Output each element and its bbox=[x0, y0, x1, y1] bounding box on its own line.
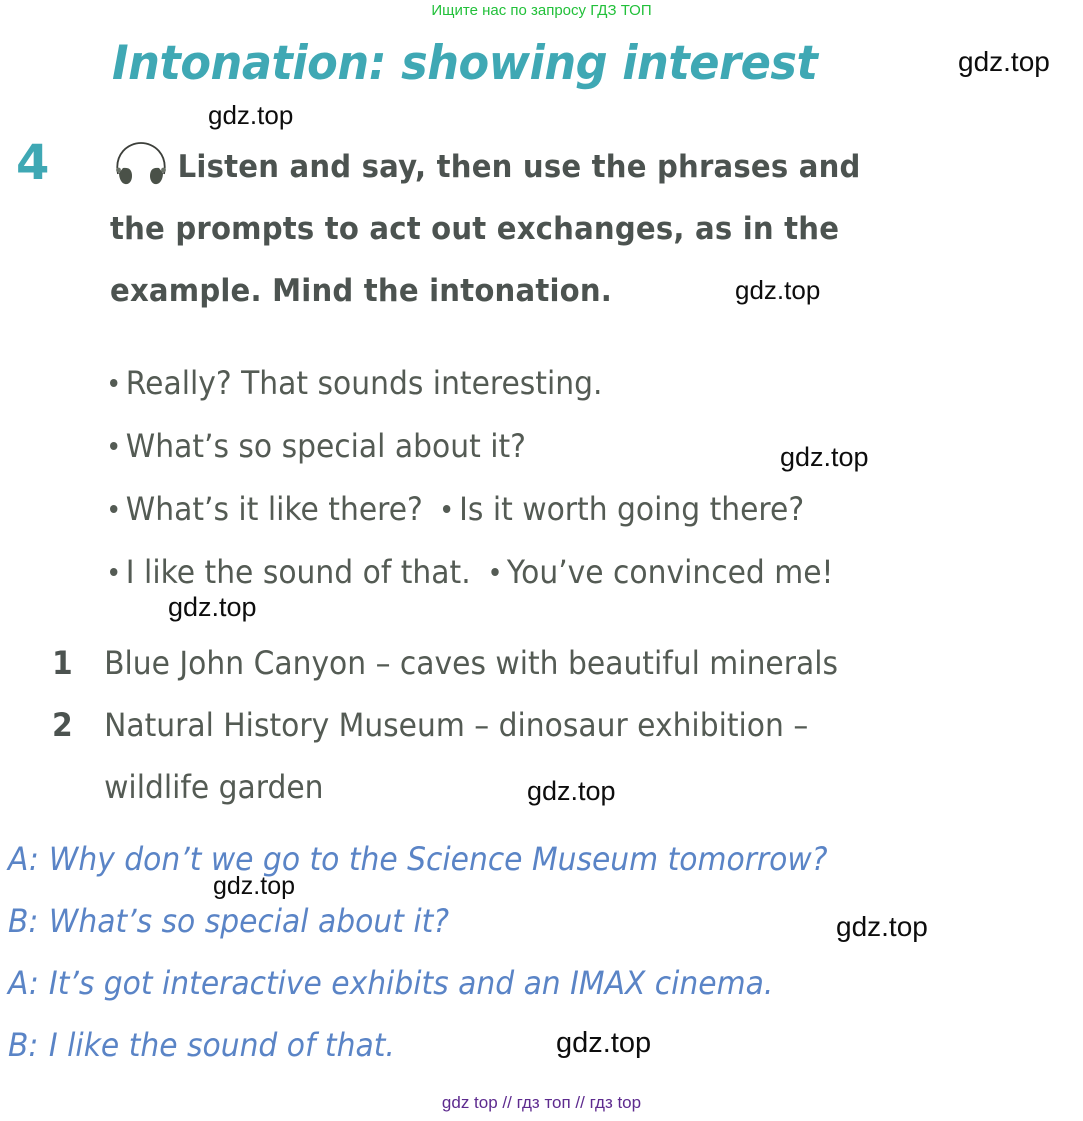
phrase-item: I like the sound of that. bbox=[126, 553, 471, 591]
dialogue-line: A: It’s got interactive exhibits and an … bbox=[8, 952, 975, 1014]
watermark-label: gdz.top bbox=[213, 872, 295, 901]
footer-text: gdz top // гдз топ // гдз top bbox=[0, 1093, 1083, 1113]
prompt-item: 2 Natural History Museum – dinosaur exhi… bbox=[52, 694, 963, 756]
instruction-line-1: Listen and say, then use the phrases and bbox=[110, 136, 956, 198]
dialogue-speaker: A: bbox=[8, 828, 49, 890]
promo-banner-text: Ищите нас по запросу ГДЗ ТОП bbox=[0, 2, 1083, 19]
prompt-number: 2 bbox=[52, 694, 104, 756]
dialogue-line: B: What’s so special about it? bbox=[8, 890, 975, 952]
phrase-item: You’ve convinced me! bbox=[507, 553, 834, 591]
dialogue-text: Why don’t we go to the Science Museum to… bbox=[49, 828, 828, 890]
watermark-label: gdz.top bbox=[556, 1027, 651, 1060]
dialogue-line: B: I like the sound of that. bbox=[8, 1014, 975, 1076]
watermark-label: gdz.top bbox=[836, 911, 928, 943]
phrase-bank-list: Really? That sounds interesting. What’s … bbox=[110, 352, 966, 604]
prompt-item: 1 Blue John Canyon – caves with beautifu… bbox=[52, 632, 963, 694]
dialogue-speaker: B: bbox=[8, 890, 49, 952]
bullet-dot-icon bbox=[443, 505, 450, 513]
example-dialogue: A: Why don’t we go to the Science Museum… bbox=[8, 828, 975, 1076]
instruction-line-3: example. Mind the intonation. bbox=[110, 260, 956, 322]
watermark-label: gdz.top bbox=[168, 592, 257, 623]
watermark-label: gdz.top bbox=[527, 776, 616, 807]
watermark-label: gdz.top bbox=[958, 46, 1050, 78]
bullet-dot-icon bbox=[491, 568, 498, 576]
prompt-list: 1 Blue John Canyon – caves with beautifu… bbox=[52, 632, 963, 818]
bullet-dot-icon bbox=[110, 505, 117, 513]
page-title: Intonation: showing interest bbox=[112, 36, 817, 91]
bullet-dot-icon bbox=[110, 568, 117, 576]
instruction-line-2: the prompts to act out exchanges, as in … bbox=[110, 198, 956, 260]
instruction-text-1: Listen and say, then use the phrases and bbox=[178, 149, 861, 185]
dialogue-line: A: Why don’t we go to the Science Museum… bbox=[8, 828, 975, 890]
dialogue-speaker: B: bbox=[8, 1014, 49, 1076]
phrase-item: Really? That sounds interesting. bbox=[126, 364, 603, 402]
exercise-instruction: Listen and say, then use the phrases and… bbox=[110, 136, 956, 322]
exercise-number: 4 bbox=[16, 139, 49, 187]
dialogue-text: I like the sound of that. bbox=[49, 1014, 395, 1076]
phrase-item: Is it worth going there? bbox=[459, 490, 804, 528]
phrase-item: What’s so special about it? bbox=[126, 427, 526, 465]
bullet-dot-icon bbox=[110, 442, 117, 450]
prompt-text: Blue John Canyon – caves with beautiful … bbox=[104, 632, 963, 694]
worksheet-page: Ищите нас по запросу ГДЗ ТОП Intonation:… bbox=[0, 0, 1083, 1121]
bullet-dot-icon bbox=[110, 379, 117, 387]
dialogue-speaker: A: bbox=[8, 952, 49, 1014]
prompt-text: Natural History Museum – dinosaur exhibi… bbox=[104, 694, 963, 756]
watermark-label: gdz.top bbox=[735, 275, 820, 306]
phrase-row: What’s it like there?Is it worth going t… bbox=[110, 478, 966, 541]
prompt-item-continuation: wildlife garden bbox=[52, 756, 963, 818]
watermark-label: gdz.top bbox=[208, 100, 293, 131]
dialogue-text: It’s got interactive exhibits and an IMA… bbox=[49, 952, 773, 1014]
prompt-number: 1 bbox=[52, 632, 104, 694]
phrase-row: Really? That sounds interesting. bbox=[110, 352, 966, 415]
phrase-item: What’s it like there? bbox=[126, 490, 423, 528]
watermark-label: gdz.top bbox=[780, 442, 869, 473]
